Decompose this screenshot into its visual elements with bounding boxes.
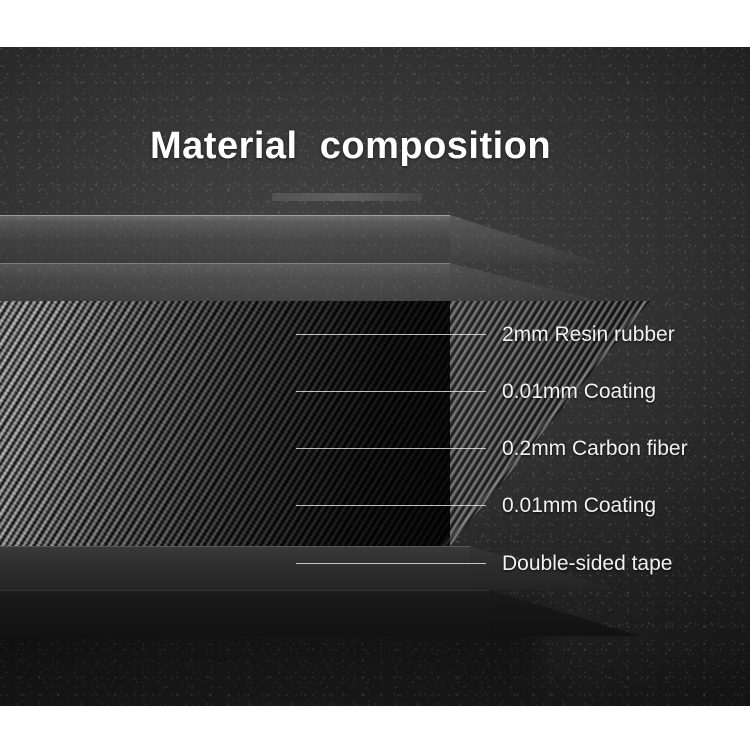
callout-label: Double-sided tape	[502, 553, 672, 574]
title-underline-bar	[272, 193, 422, 201]
carbon-weave-texture	[0, 301, 450, 546]
layer-body	[0, 546, 470, 590]
leader-line-icon	[296, 448, 486, 449]
image-canvas: Material composition 2mm Resin rubber 0.…	[0, 0, 750, 750]
callout-carbon-fiber: 0.2mm Carbon fiber	[440, 438, 688, 459]
callout-resin-rubber: 2mm Resin rubber	[440, 324, 675, 345]
callout-label: 2mm Resin rubber	[502, 324, 675, 345]
layer-carbon-fiber	[0, 301, 450, 546]
callout-label: 0.01mm Coating	[502, 495, 656, 516]
callout-double-sided-tape: Double-sided tape	[440, 553, 672, 574]
page-title: Material composition	[150, 125, 551, 168]
layer-coating-bottom	[0, 546, 470, 590]
callout-coating-top: 0.01mm Coating	[440, 381, 656, 402]
dark-panel: Material composition 2mm Resin rubber 0.…	[0, 47, 750, 706]
leader-line-icon	[296, 334, 486, 335]
leader-line-icon	[296, 391, 486, 392]
leader-line-icon	[296, 563, 486, 564]
layer-taper-edge	[450, 263, 600, 301]
layer-resin-rubber	[0, 215, 450, 263]
layer-double-sided-tape	[0, 590, 490, 636]
callout-label: 0.01mm Coating	[502, 381, 656, 402]
callout-label: 0.2mm Carbon fiber	[502, 438, 688, 459]
layer-body	[0, 263, 450, 301]
carbon-shading-overlay	[0, 301, 450, 546]
layer-body	[0, 215, 450, 263]
leader-line-icon	[296, 505, 486, 506]
layer-taper-edge	[490, 590, 640, 636]
layer-taper-edge	[450, 215, 600, 263]
layer-body	[0, 590, 490, 636]
callout-coating-bottom: 0.01mm Coating	[440, 495, 656, 516]
layer-coating-top	[0, 263, 450, 301]
